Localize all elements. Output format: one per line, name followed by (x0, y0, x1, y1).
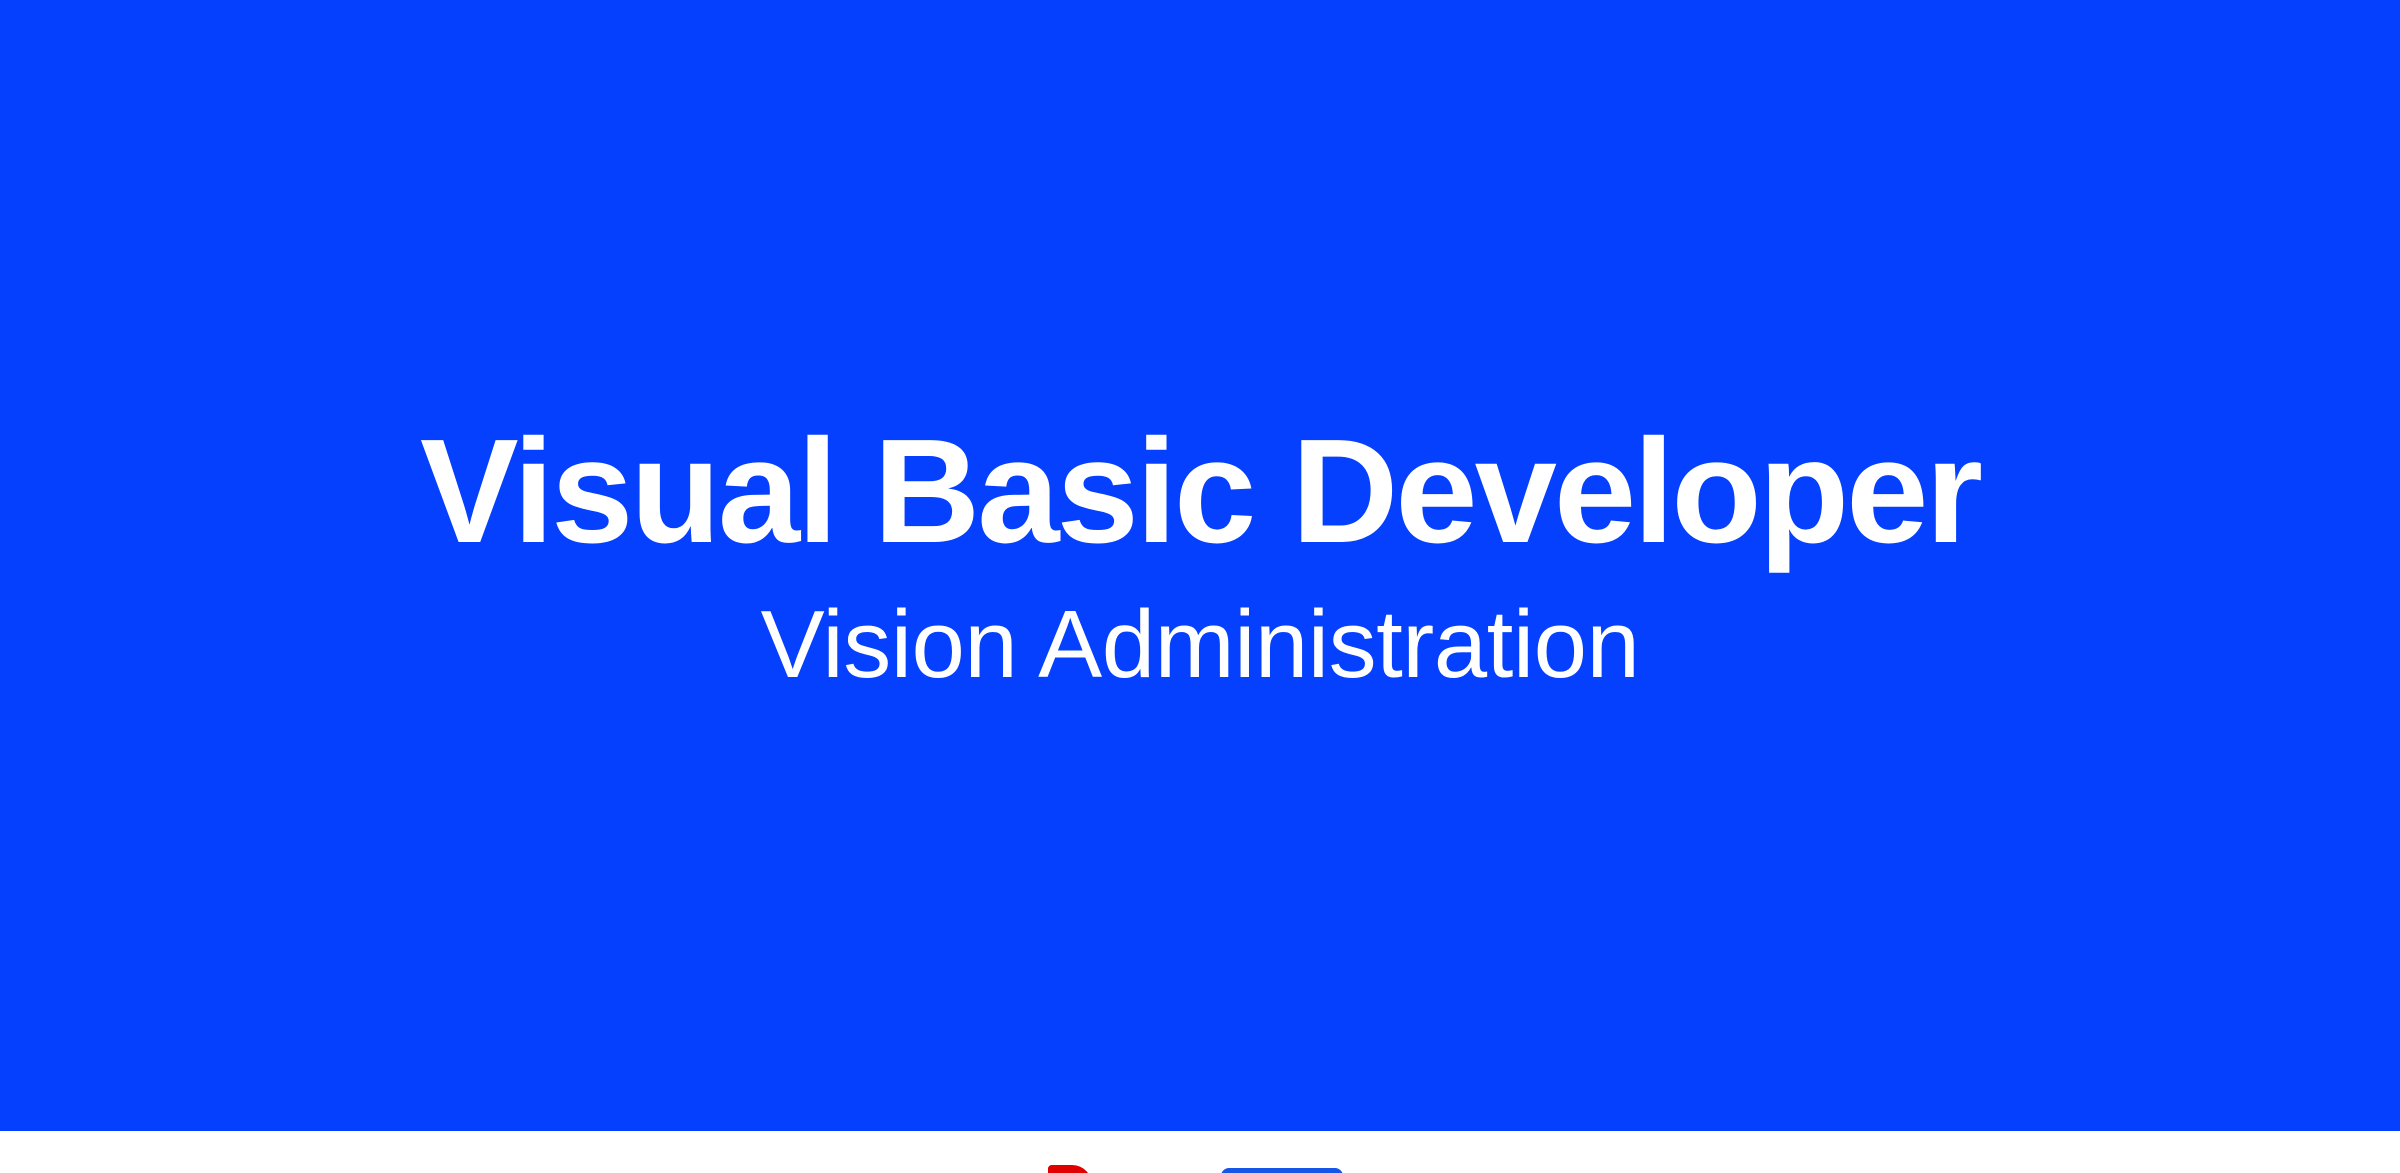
red-logo-icon (1048, 1165, 1092, 1173)
hero-panel: Visual Basic Developer Vision Administra… (0, 0, 2400, 1131)
logo-strip (0, 1131, 2400, 1173)
page-title: Visual Basic Developer (420, 418, 1980, 566)
hero-text-block: Visual Basic Developer Vision Administra… (0, 0, 2400, 1131)
page-subtitle: Vision Administration (761, 597, 1640, 693)
title-slide: Visual Basic Developer Vision Administra… (0, 0, 2400, 1173)
footer-band (0, 1131, 2400, 1173)
blue-logo-icon (1221, 1168, 1343, 1173)
